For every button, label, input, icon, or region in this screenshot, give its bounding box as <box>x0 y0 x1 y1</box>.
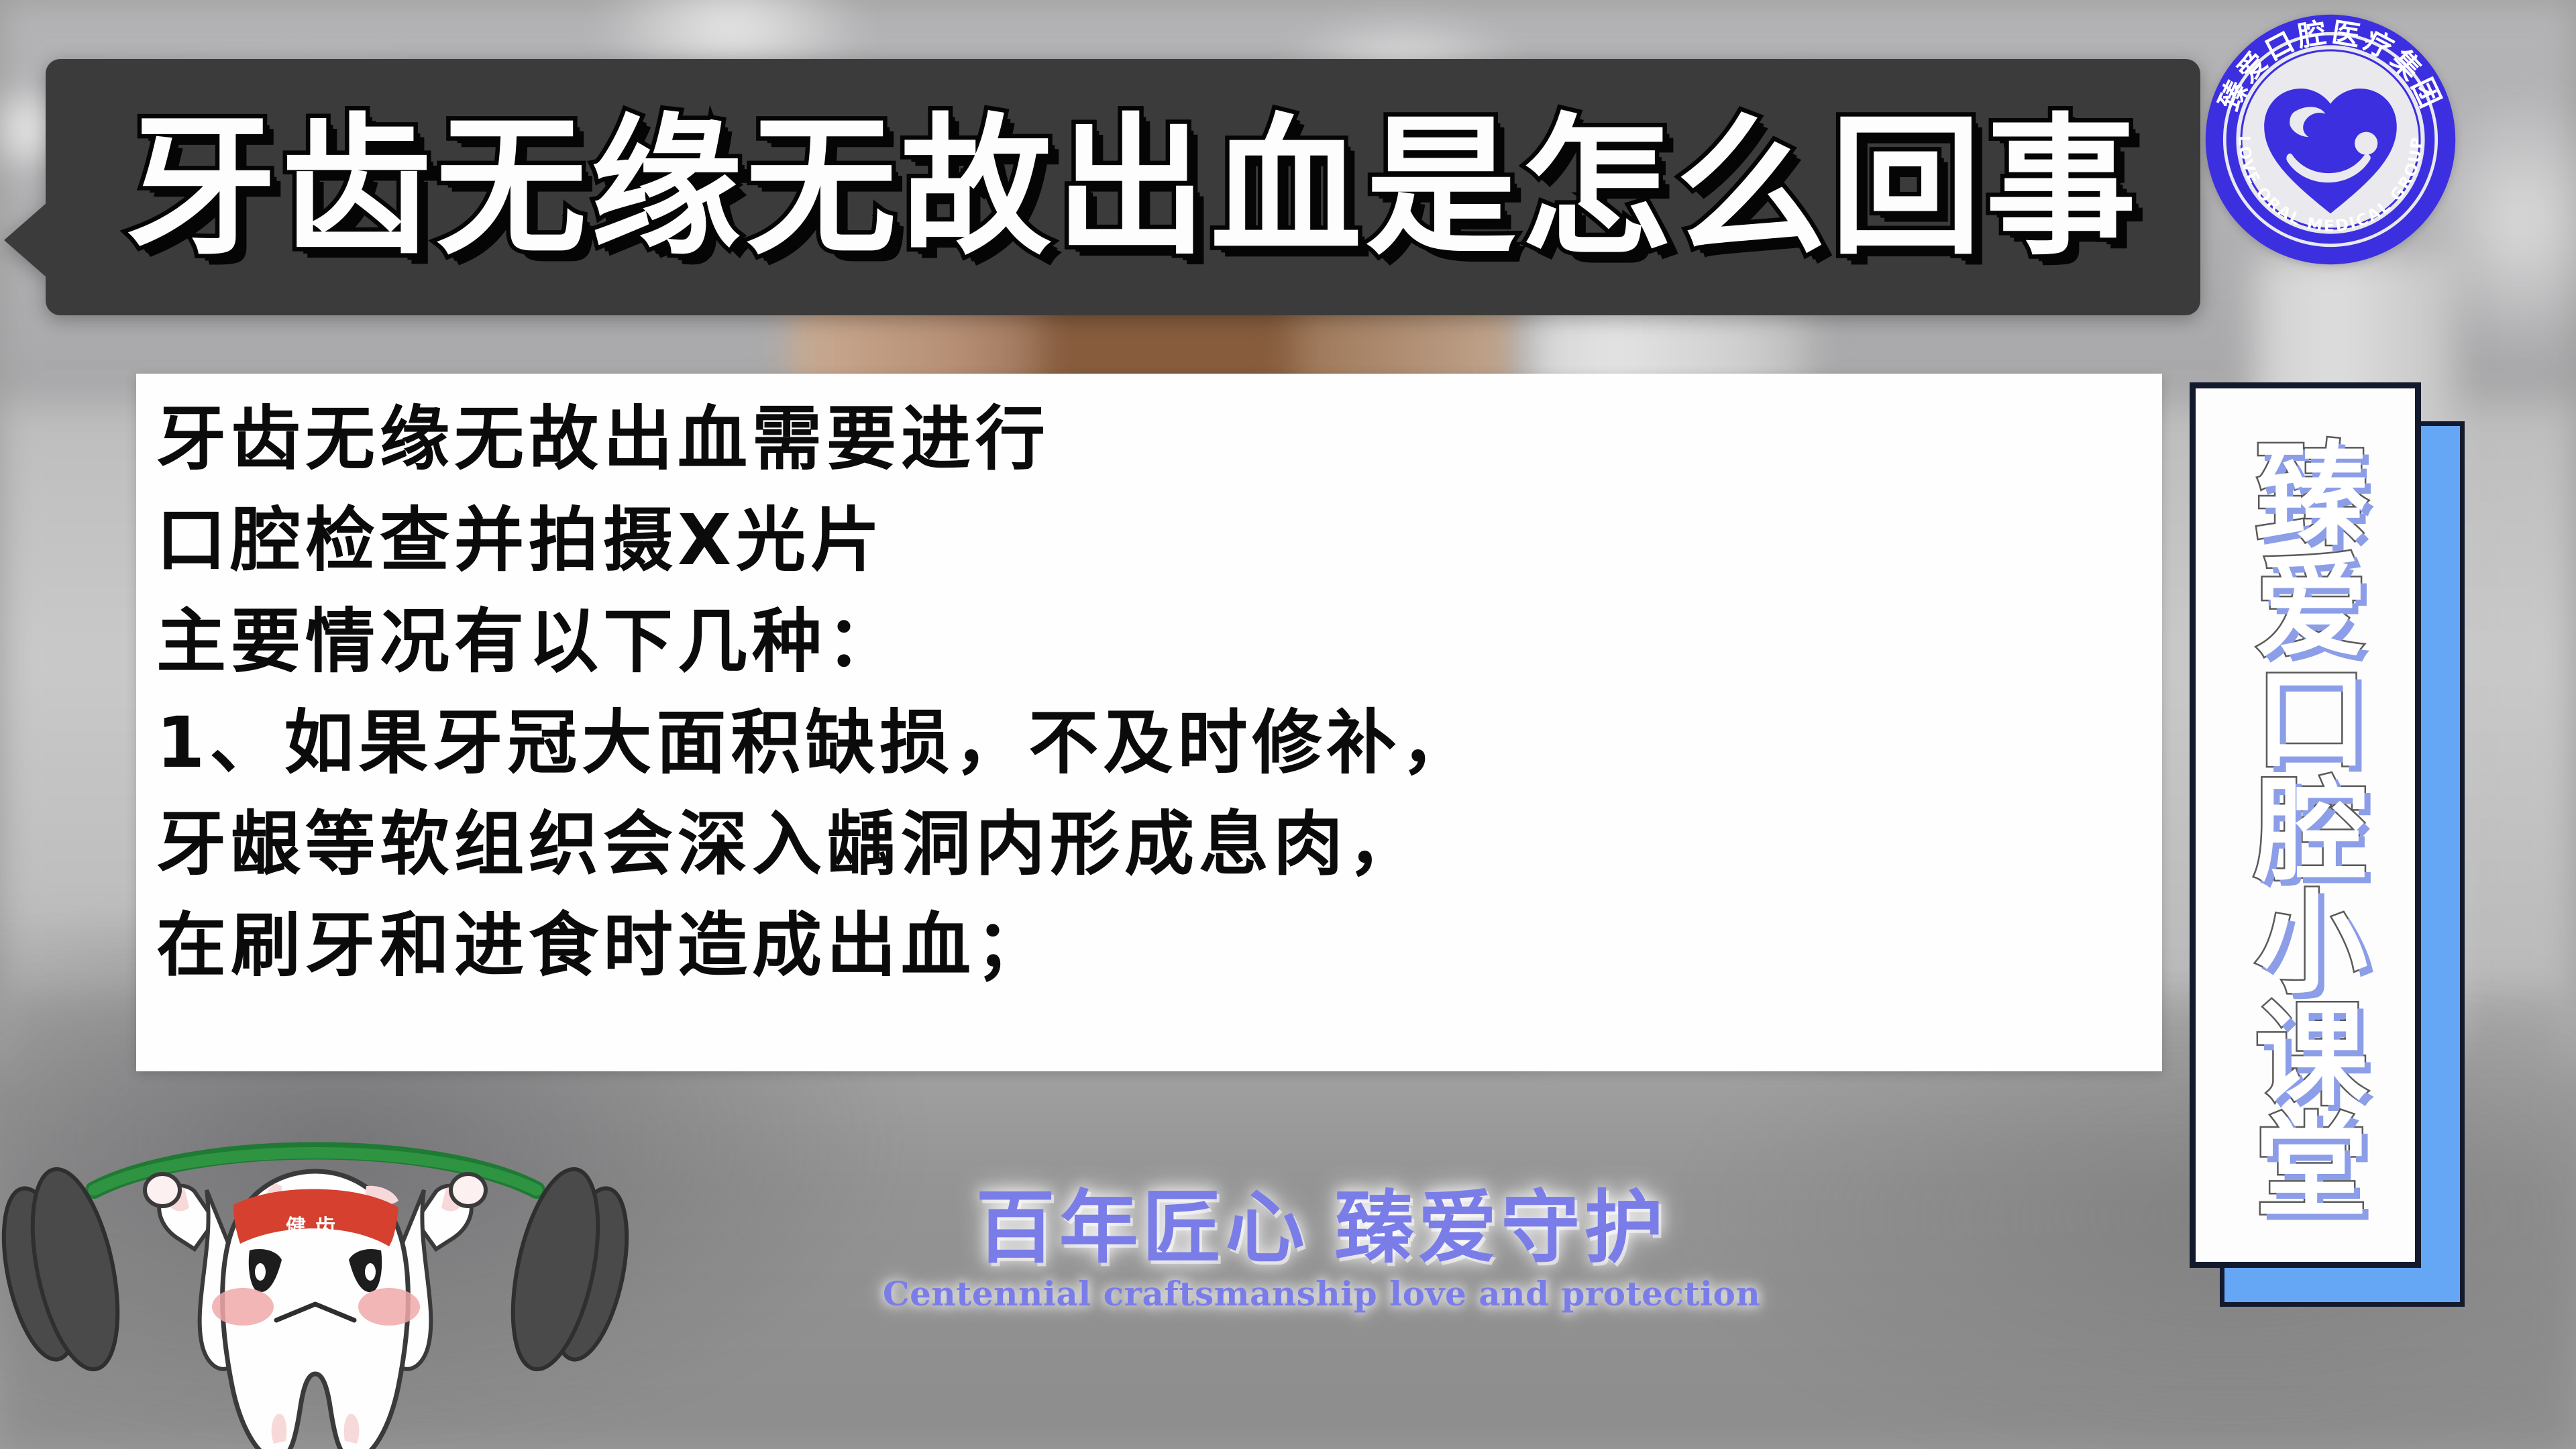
barbell-plate-left <box>0 1162 133 1377</box>
vertical-banner: 臻 爱 口 腔 小 课 堂 <box>2190 382 2471 1315</box>
content-line-2: 口腔检查并拍摄X光片 <box>156 490 2162 591</box>
content-line-5: 牙龈等软组织会深入龋洞内形成息肉， <box>156 794 2162 895</box>
content-line-4: 1、如果牙冠大面积缺损，不及时修补， <box>156 692 2162 794</box>
tooth-weightlifter-mascot: 健齿 <box>0 1071 637 1449</box>
vertical-banner-white-plate: 臻 爱 口 腔 小 课 堂 <box>2190 382 2421 1268</box>
vbanner-char-6: 课 <box>2255 1000 2368 1112</box>
headband-label: 健齿 <box>286 1216 345 1239</box>
slogan-english: Centennial craftsmanship love and protec… <box>879 1274 1764 1313</box>
content-line-3: 主要情况有以下几种： <box>156 591 2162 692</box>
slogan-chinese: 百年匠心 臻爱守护 <box>879 1187 1764 1270</box>
barbell-plate-right <box>498 1162 637 1377</box>
vertical-banner-text: 臻 爱 口 腔 小 课 堂 <box>2196 388 2427 1274</box>
vbanner-char-1: 臻 <box>2255 439 2368 551</box>
content-line-6: 在刷牙和进食时造成出血； <box>156 895 2162 996</box>
vbanner-char-3: 口 <box>2255 663 2368 775</box>
vbanner-char-5: 小 <box>2255 888 2368 1000</box>
vbanner-char-2: 爱 <box>2255 551 2368 663</box>
brand-logo: 臻爱口腔医疗集团 LOVE ORAL MEDICAL GROUP <box>2203 12 2458 267</box>
content-line-1: 牙齿无缘无故出血需要进行 <box>156 388 2162 490</box>
title-banner-tail <box>4 203 47 278</box>
content-card: 牙齿无缘无故出血需要进行 口腔检查并拍摄X光片 主要情况有以下几种： 1、如果牙… <box>136 374 2162 1071</box>
vbanner-char-4: 腔 <box>2255 775 2368 888</box>
vbanner-char-7: 堂 <box>2255 1112 2368 1224</box>
video-frame: 牙齿无缘无故出血是怎么回事 臻爱口腔医疗集团 LOVE ORA <box>0 0 2576 1449</box>
slogan-block: 百年匠心 臻爱守护 Centennial craftsmanship love … <box>879 1187 1764 1313</box>
page-title: 牙齿无缘无故出血是怎么回事 <box>46 59 2200 315</box>
title-banner: 牙齿无缘无故出血是怎么回事 <box>46 59 2200 315</box>
